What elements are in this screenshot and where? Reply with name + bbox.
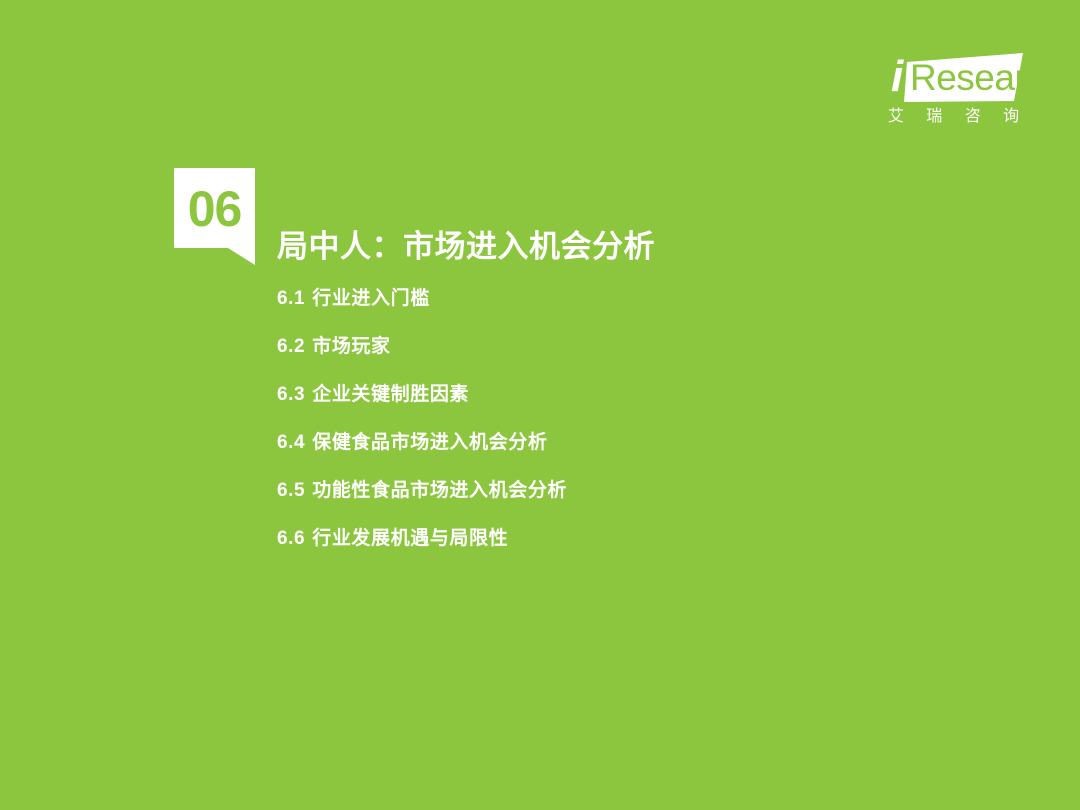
list-item: 6.2市场玩家 — [277, 334, 877, 382]
list-item-label: 市场玩家 — [312, 336, 390, 357]
list-item-number: 6.1 — [277, 288, 305, 309]
section-number-badge: 06 — [174, 168, 255, 265]
iresearch-logo: i Research 艾 瑞 咨 询 — [884, 40, 1034, 135]
list-item-number: 6.4 — [277, 432, 305, 453]
list-item-number: 6.2 — [277, 336, 305, 357]
list-item-label: 行业进入门槛 — [312, 288, 430, 309]
list-item-label: 行业发展机遇与局限性 — [312, 528, 508, 549]
logo-wordmark: Research — [910, 56, 1064, 100]
section-number: 06 — [174, 176, 255, 242]
list-item-label: 企业关键制胜因素 — [312, 384, 469, 405]
logo-letter-i: i — [891, 54, 905, 100]
list-item: 6.1行业进入门槛 — [277, 286, 877, 334]
list-item-number: 6.5 — [277, 480, 305, 501]
list-item: 6.6行业发展机遇与局限性 — [277, 526, 877, 574]
list-item: 6.3企业关键制胜因素 — [277, 382, 877, 430]
list-item: 6.4保健食品市场进入机会分析 — [277, 430, 877, 478]
logo-chinese-name: 艾 瑞 咨 询 — [887, 102, 1029, 126]
list-item-number: 6.6 — [277, 528, 305, 549]
list-item-label: 功能性食品市场进入机会分析 — [312, 480, 567, 501]
section-contents-list: 6.1行业进入门槛 6.2市场玩家 6.3企业关键制胜因素 6.4保健食品市场进… — [277, 286, 877, 574]
section-divider-slide: i Research 艾 瑞 咨 询 06 局中人：市场进入机会分析 6.1行业… — [0, 0, 1080, 810]
list-item: 6.5功能性食品市场进入机会分析 — [277, 478, 877, 526]
list-item-label: 保健食品市场进入机会分析 — [312, 432, 547, 453]
page-title: 局中人：市场进入机会分析 — [277, 227, 655, 267]
list-item-number: 6.3 — [277, 384, 305, 405]
